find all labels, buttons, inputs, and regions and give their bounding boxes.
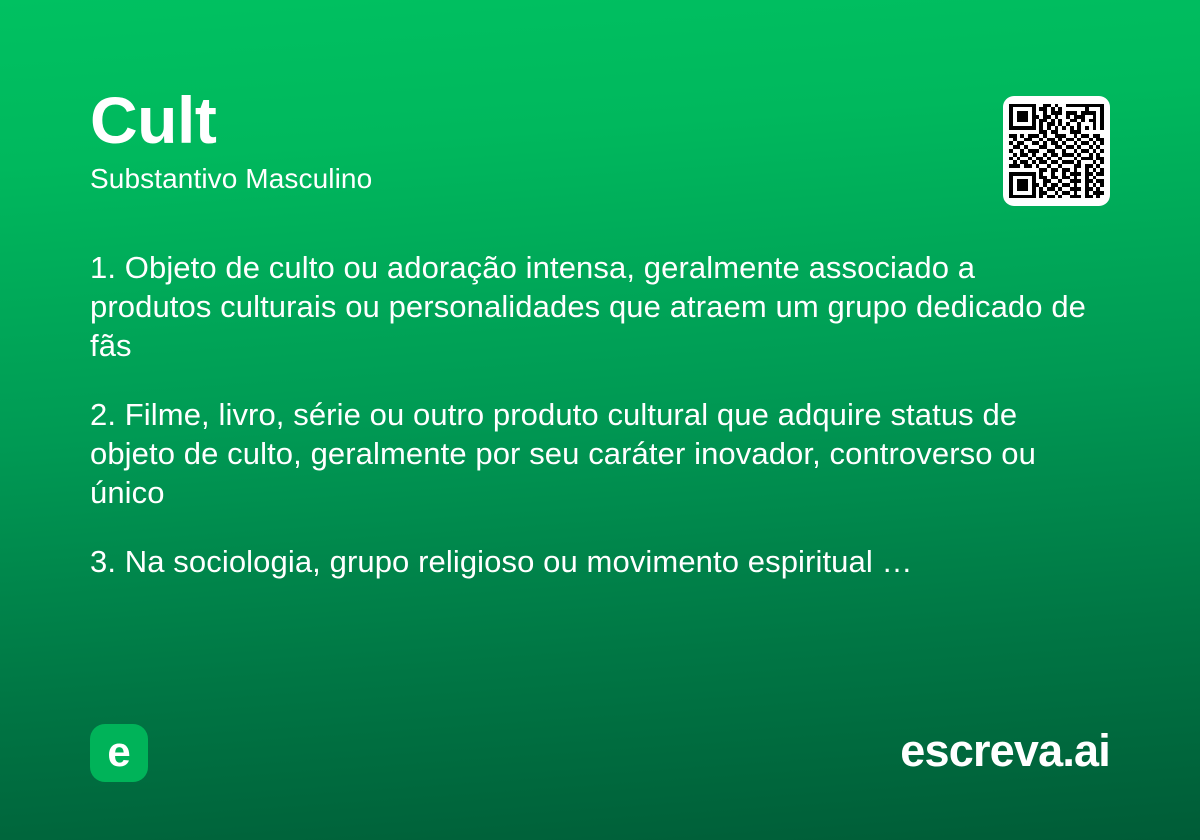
page-title: Cult: [90, 84, 970, 156]
logo-letter: e: [107, 731, 130, 773]
word-class-label: Substantivo Masculino: [90, 162, 970, 196]
definition-item: 1. Objeto de culto ou adoração intensa, …: [90, 248, 1100, 365]
definition-item: 2. Filme, livro, série ou outro produto …: [90, 395, 1100, 512]
qr-code-card[interactable]: [1003, 96, 1110, 206]
card-header: Cult Substantivo Masculino: [90, 84, 970, 196]
escreva-logo-badge: e: [90, 724, 148, 782]
brand-wordmark: escreva.ai: [900, 723, 1110, 779]
definition-list: 1. Objeto de culto ou adoração intensa, …: [90, 248, 1100, 581]
dictionary-card: Cult Substantivo Masculino 1. Objeto de …: [0, 0, 1200, 840]
definition-item: 3. Na sociologia, grupo religioso ou mov…: [90, 542, 1100, 581]
qr-code-icon: [1009, 104, 1104, 199]
